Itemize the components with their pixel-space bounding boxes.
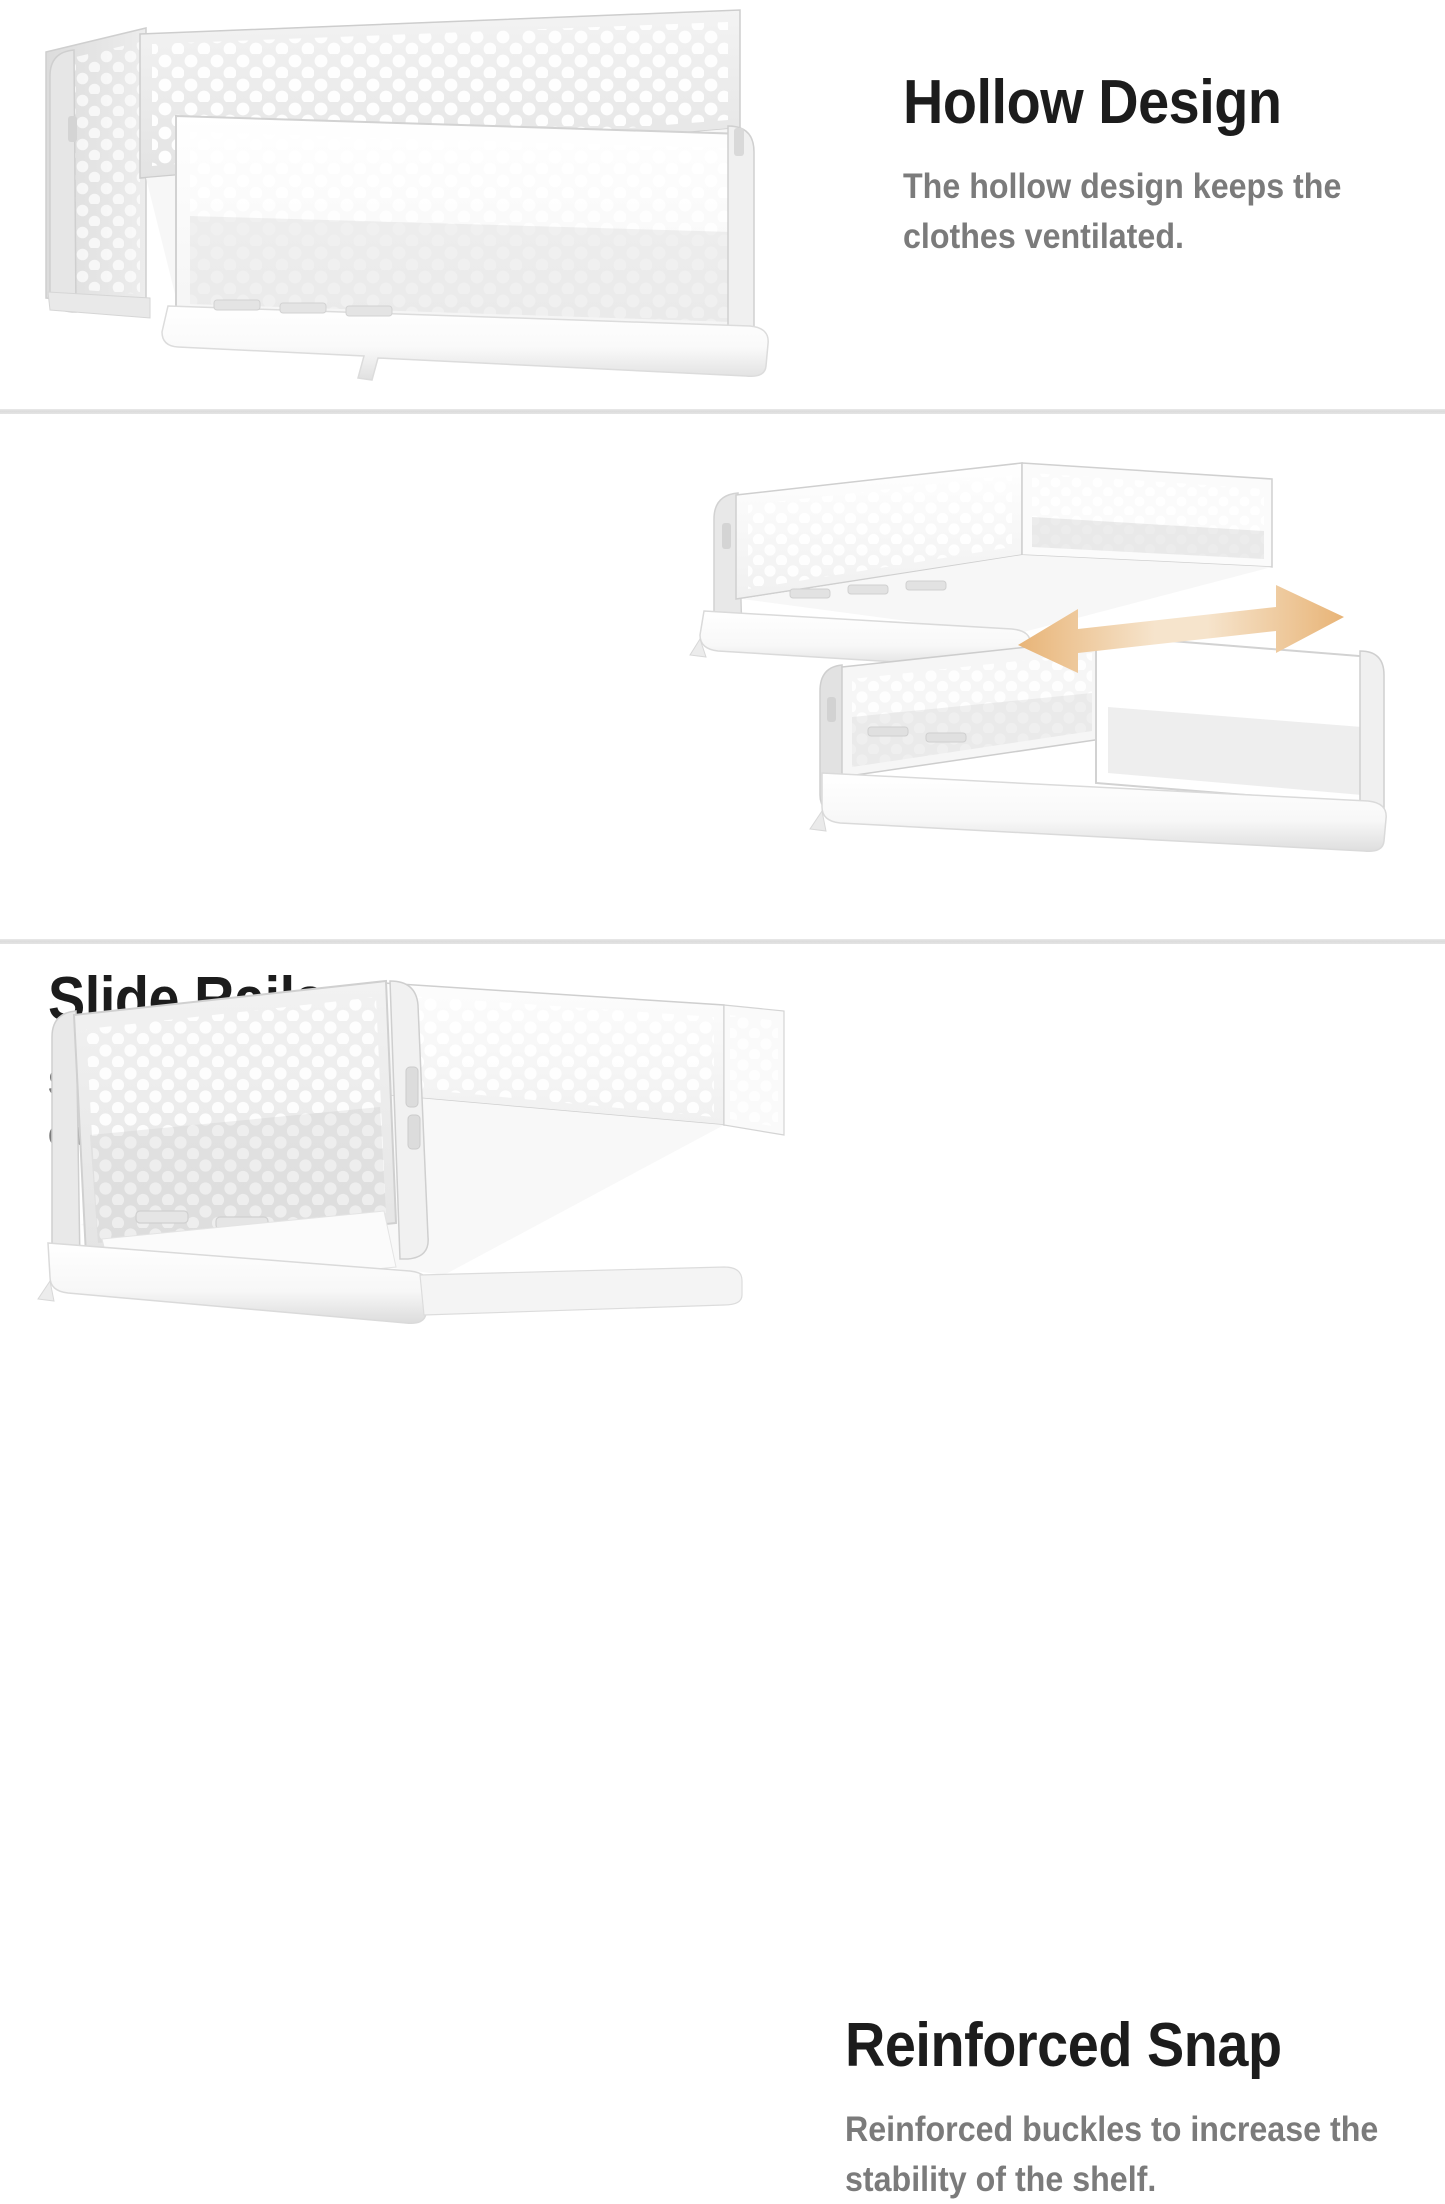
product-image-reinforced-snap <box>24 975 814 1350</box>
product-image-slide-rails <box>672 439 1442 909</box>
divider-1 <box>0 409 1445 414</box>
feature-body: The hollow design keeps the clothes vent… <box>903 162 1381 261</box>
feature-panel-reinforced-snap: Reinforced Snap Reinforced buckles to in… <box>0 947 1445 1358</box>
divider-2 <box>0 939 1445 944</box>
feature-headline: Hollow Design <box>903 72 1371 134</box>
product-image-hollow-design <box>28 6 818 406</box>
feature-panel-hollow-design: Hollow Design The hollow design keeps th… <box>0 0 1445 412</box>
basket-illustration-3 <box>24 975 814 1350</box>
basket-illustration-2 <box>672 439 1442 909</box>
feature-body: Reinforced buckles to increase the stabi… <box>845 2105 1379 2204</box>
feature-panel-slide-rails: Slide Rails Stable stacking and easy sli… <box>0 417 1445 942</box>
basket-illustration-1 <box>28 6 818 406</box>
feature-text-reinforced-snap: Reinforced Snap Reinforced buckles to in… <box>845 2015 1425 2204</box>
feature-headline: Reinforced Snap <box>845 2015 1367 2077</box>
infographic-page: Hollow Design The hollow design keeps th… <box>0 0 1445 1358</box>
feature-text-hollow-design: Hollow Design The hollow design keeps th… <box>903 72 1423 261</box>
